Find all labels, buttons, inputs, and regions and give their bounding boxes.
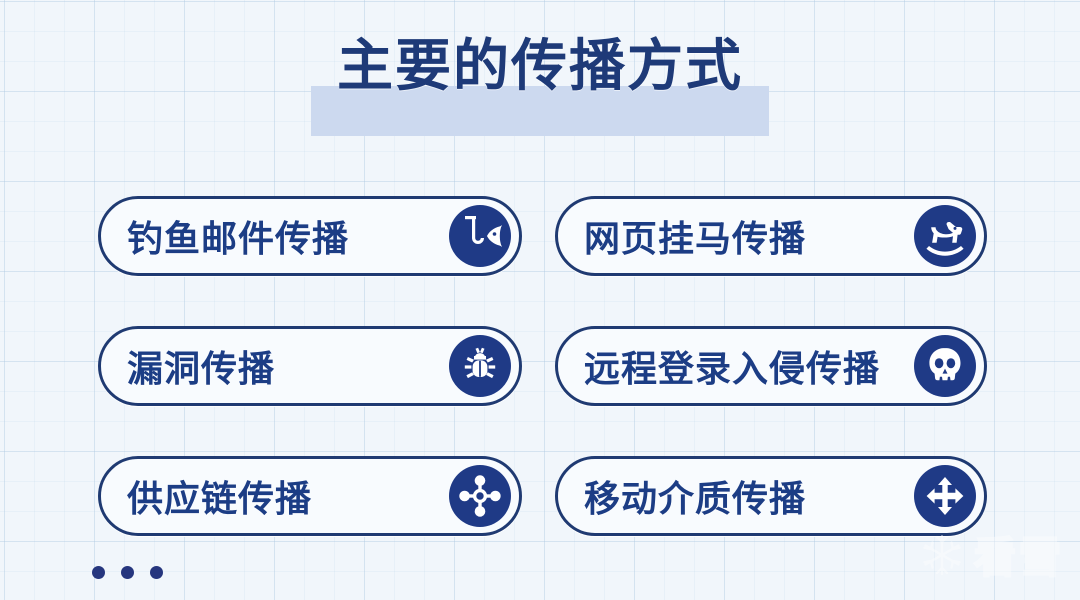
title-block: 主要的传播方式	[0, 26, 1080, 116]
watermark: 看雪	[918, 531, 1064, 584]
pill-label: 供应链传播	[101, 470, 312, 522]
pill-label: 网页挂马传播	[558, 210, 806, 262]
ellipsis-dot	[121, 566, 134, 579]
propagation-methods-list: 钓鱼邮件传播 网页挂马传播	[0, 196, 1080, 536]
move-arrows-icon	[914, 465, 976, 527]
trojan-horse-icon	[914, 205, 976, 267]
list-item-supply-chain[interactable]: 供应链传播	[98, 456, 522, 536]
pill-label: 移动介质传播	[558, 470, 806, 522]
page-title: 主要的传播方式	[0, 26, 1080, 106]
ellipsis-dot	[92, 566, 105, 579]
list-item-phishing-email[interactable]: 钓鱼邮件传播	[98, 196, 522, 276]
network-nodes-icon	[449, 465, 511, 527]
fish-hook-icon	[449, 205, 511, 267]
ellipsis-dot	[150, 566, 163, 579]
skull-icon	[914, 335, 976, 397]
more-items-ellipsis	[92, 566, 163, 579]
list-item-removable-media[interactable]: 移动介质传播	[555, 456, 987, 536]
pill-label: 钓鱼邮件传播	[101, 210, 349, 262]
pill-label: 远程登录入侵传播	[558, 340, 880, 392]
pill-label: 漏洞传播	[101, 340, 275, 392]
snowflake-icon	[918, 531, 966, 584]
slide-canvas: 主要的传播方式 钓鱼邮件传播 网页挂马传播	[0, 0, 1080, 600]
bug-icon	[449, 335, 511, 397]
list-item-web-trojan[interactable]: 网页挂马传播	[555, 196, 987, 276]
watermark-text: 看雪	[974, 535, 1064, 581]
list-item-vulnerability[interactable]: 漏洞传播	[98, 326, 522, 406]
list-item-remote-login-intrusion[interactable]: 远程登录入侵传播	[555, 326, 987, 406]
